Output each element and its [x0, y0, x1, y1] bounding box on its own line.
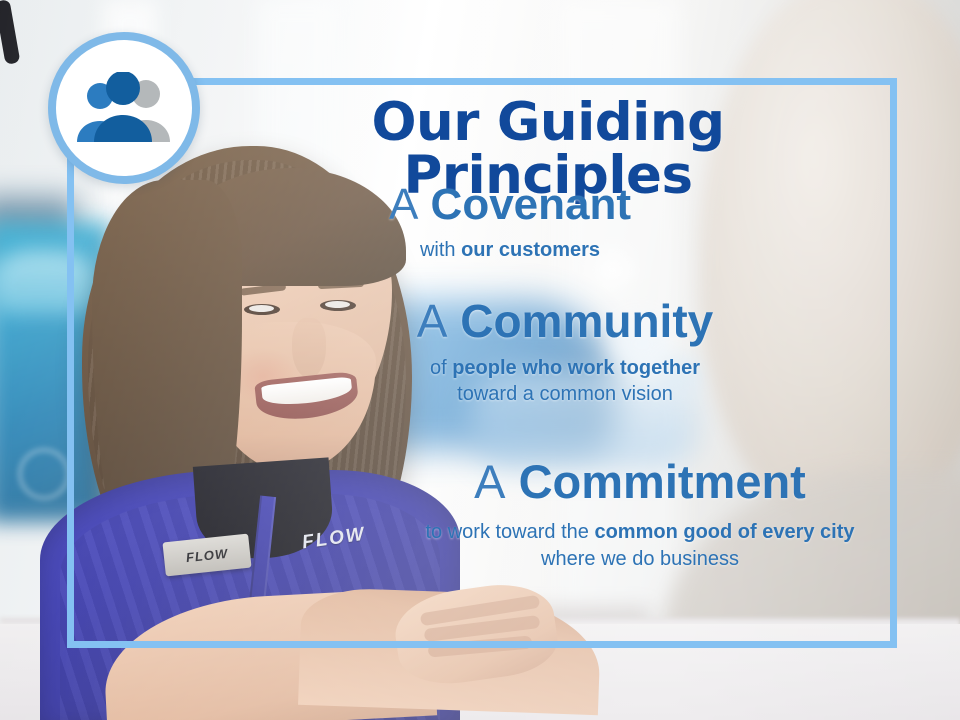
principle-2-article: A — [417, 295, 448, 347]
principle-1-detail-part-1: with — [420, 239, 461, 261]
principle-3-detail-part-1: to work toward the — [425, 521, 594, 543]
principle-covenant: A Covenant with our customers — [290, 182, 730, 263]
principle-3-detail-part-3: where we do business — [541, 548, 739, 570]
guiding-principles-graphic: FLOW FLOW Our Guid — [0, 0, 960, 720]
principle-1-article: A — [389, 180, 418, 229]
principle-3-detail-part-2: common good of every city — [594, 521, 854, 543]
people-badge — [48, 32, 200, 184]
principle-3-headline: A Commitment — [400, 458, 880, 507]
principle-2-detail-part-1: of — [430, 357, 452, 379]
principle-3-detail: to work toward the common good of every … — [400, 519, 880, 574]
principle-3-article: A — [474, 455, 505, 508]
principle-2-detail: of people who work together toward a com… — [330, 355, 800, 407]
principle-1-detail-part-2: our customers — [461, 239, 600, 261]
people-group-icon — [72, 72, 176, 144]
principle-3-keyword: Commitment — [519, 455, 806, 508]
principle-2-detail-part-2: people who work together — [452, 357, 700, 379]
principle-1-headline: A Covenant — [290, 182, 730, 228]
principle-commitment: A Commitment to work toward the common g… — [400, 458, 880, 574]
principle-2-detail-part-3: toward a common vision — [457, 383, 673, 405]
principle-2-keyword: Community — [460, 295, 713, 347]
principle-1-detail: with our customers — [290, 237, 730, 263]
principle-1-keyword: Covenant — [431, 180, 631, 229]
principle-2-headline: A Community — [330, 298, 800, 346]
principle-community: A Community of people who work together … — [330, 298, 800, 407]
